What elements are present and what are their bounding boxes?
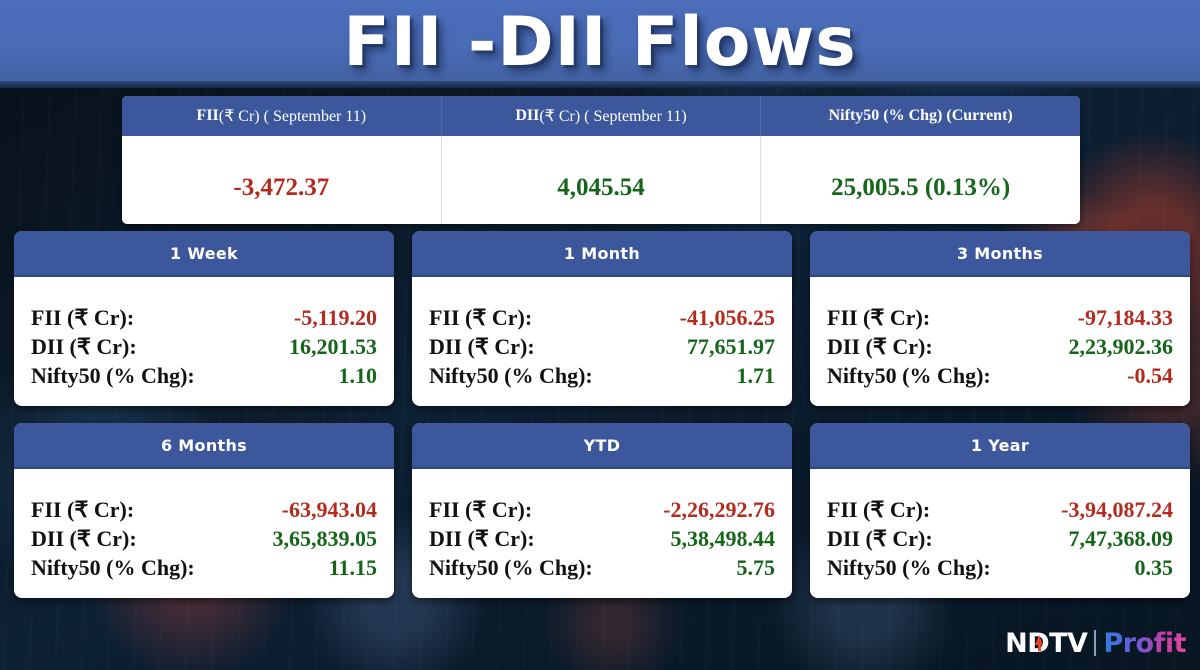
card-row-label: FII (₹ Cr): [31,497,134,523]
card-row-value: 2,23,902.36 [1069,334,1174,360]
card-body: FII (₹ Cr): -41,056.25 DII (₹ Cr): 77,65… [412,277,792,406]
profit-wordmark: Profit [1103,630,1186,657]
card-title: 1 Month [412,231,792,277]
card-row-label: DII (₹ Cr): [827,526,933,552]
ndtv-profit-logo: NDTV Profit [1005,626,1186,660]
card-row-label: FII (₹ Cr): [429,305,532,331]
card-row-label: DII (₹ Cr): [429,526,535,552]
card-row-label: Nifty50 (% Chg): [31,363,195,389]
summary-table-value-row: -3,472.37 4,045.54 25,005.5 (0.13%) [122,136,1080,224]
card-title: 3 Months [810,231,1190,277]
card-row-label: Nifty50 (% Chg): [429,363,593,389]
period-card-6-months: 6 Months FII (₹ Cr): -63,943.04 DII (₹ C… [14,423,394,598]
card-row-label: DII (₹ Cr): [31,334,137,360]
card-row-value: 16,201.53 [289,334,377,360]
card-row-value: -41,056.25 [680,305,775,331]
card-row-fii: FII (₹ Cr): -5,119.20 [31,305,377,334]
ndtv-wordmark: NDTV [1005,630,1087,657]
summary-header-nifty-bold: Nifty50 (% Chg) (Current) [829,107,1013,125]
period-card-ytd: YTD FII (₹ Cr): -2,26,292.76 DII (₹ Cr):… [412,423,792,598]
summary-value-fii: -3,472.37 [122,136,442,224]
summary-header-fii-rest: (₹ Cr) ( September 11) [219,106,366,126]
card-row-fii: FII (₹ Cr): -41,056.25 [429,305,775,334]
card-row-value: -5,119.20 [294,305,377,331]
card-body: FII (₹ Cr): -97,184.33 DII (₹ Cr): 2,23,… [810,277,1190,406]
card-row-value: 0.35 [1135,555,1174,581]
title-banner: FII -DII Flows [0,0,1200,88]
summary-header-dii: DII(₹ Cr) ( September 11) [442,96,762,136]
card-row-value: 1.10 [339,363,378,389]
card-row-dii: DII (₹ Cr): 77,651.97 [429,334,775,363]
summary-header-dii-bold: DII [515,107,539,125]
card-row-label: DII (₹ Cr): [827,334,933,360]
card-row-dii: DII (₹ Cr): 2,23,902.36 [827,334,1173,363]
card-title: 6 Months [14,423,394,469]
card-row-label: FII (₹ Cr): [827,305,930,331]
card-row-value: 7,47,368.09 [1069,526,1174,552]
card-row-value: 5,38,498.44 [671,526,776,552]
summary-header-fii: FII(₹ Cr) ( September 11) [122,96,442,136]
period-card-1-week: 1 Week FII (₹ Cr): -5,119.20 DII (₹ Cr):… [14,231,394,406]
up-arrow-icon [1035,635,1043,645]
card-row-label: DII (₹ Cr): [31,526,137,552]
card-row-label: FII (₹ Cr): [31,305,134,331]
card-row-dii: DII (₹ Cr): 5,38,498.44 [429,526,775,555]
card-row-nifty: Nifty50 (% Chg): 1.71 [429,363,775,392]
card-row-dii: DII (₹ Cr): 16,201.53 [31,334,377,363]
card-row-nifty: Nifty50 (% Chg): 0.35 [827,555,1173,584]
card-title: 1 Year [810,423,1190,469]
card-row-value: 3,65,839.05 [273,526,378,552]
card-row-dii: DII (₹ Cr): 7,47,368.09 [827,526,1173,555]
period-cards-grid: 1 Week FII (₹ Cr): -5,119.20 DII (₹ Cr):… [14,231,1190,613]
card-row-nifty: Nifty50 (% Chg): 1.10 [31,363,377,392]
period-card-1-year: 1 Year FII (₹ Cr): -3,94,087.24 DII (₹ C… [810,423,1190,598]
summary-header-nifty: Nifty50 (% Chg) (Current) [761,96,1080,136]
card-row-nifty: Nifty50 (% Chg): 11.15 [31,555,377,584]
summary-table: FII(₹ Cr) ( September 11) DII(₹ Cr) ( Se… [122,96,1080,224]
summary-value-dii: 4,045.54 [442,136,762,224]
card-body: FII (₹ Cr): -5,119.20 DII (₹ Cr): 16,201… [14,277,394,406]
card-row-label: Nifty50 (% Chg): [31,555,195,581]
card-row-value: 1.71 [737,363,776,389]
card-row-value: 77,651.97 [687,334,775,360]
card-title: YTD [412,423,792,469]
period-card-3-months: 3 Months FII (₹ Cr): -97,184.33 DII (₹ C… [810,231,1190,406]
ndtv-wordmark-text: NDTV [1005,628,1087,659]
card-body: FII (₹ Cr): -3,94,087.24 DII (₹ Cr): 7,4… [810,469,1190,598]
summary-header-dii-rest: (₹ Cr) ( September 11) [539,106,686,126]
card-row-value: -97,184.33 [1078,305,1173,331]
summary-value-nifty: 25,005.5 (0.13%) [761,136,1080,224]
page-title: FII -DII Flows [343,9,856,77]
card-row-label: FII (₹ Cr): [827,497,930,523]
card-row-label: Nifty50 (% Chg): [827,363,991,389]
card-row-label: Nifty50 (% Chg): [429,555,593,581]
summary-header-fii-bold: FII [197,107,219,125]
card-row-fii: FII (₹ Cr): -97,184.33 [827,305,1173,334]
card-row-nifty: Nifty50 (% Chg): -0.54 [827,363,1173,392]
fii-dii-flows-infographic: FII -DII Flows FII(₹ Cr) ( September 11)… [0,0,1200,670]
card-body: FII (₹ Cr): -63,943.04 DII (₹ Cr): 3,65,… [14,469,394,598]
summary-table-header-row: FII(₹ Cr) ( September 11) DII(₹ Cr) ( Se… [122,96,1080,136]
card-row-label: FII (₹ Cr): [429,497,532,523]
card-row-fii: FII (₹ Cr): -63,943.04 [31,497,377,526]
card-title: 1 Week [14,231,394,277]
card-row-value: -63,943.04 [282,497,377,523]
card-row-value: 11.15 [329,555,377,581]
card-row-value: 5.75 [737,555,776,581]
logo-divider [1094,630,1096,656]
card-row-value: -2,26,292.76 [663,497,775,523]
card-body: FII (₹ Cr): -2,26,292.76 DII (₹ Cr): 5,3… [412,469,792,598]
period-card-1-month: 1 Month FII (₹ Cr): -41,056.25 DII (₹ Cr… [412,231,792,406]
card-row-dii: DII (₹ Cr): 3,65,839.05 [31,526,377,555]
card-row-fii: FII (₹ Cr): -3,94,087.24 [827,497,1173,526]
card-row-fii: FII (₹ Cr): -2,26,292.76 [429,497,775,526]
card-row-label: DII (₹ Cr): [429,334,535,360]
card-row-value: -0.54 [1127,363,1173,389]
card-row-nifty: Nifty50 (% Chg): 5.75 [429,555,775,584]
card-row-value: -3,94,087.24 [1061,497,1173,523]
card-row-label: Nifty50 (% Chg): [827,555,991,581]
